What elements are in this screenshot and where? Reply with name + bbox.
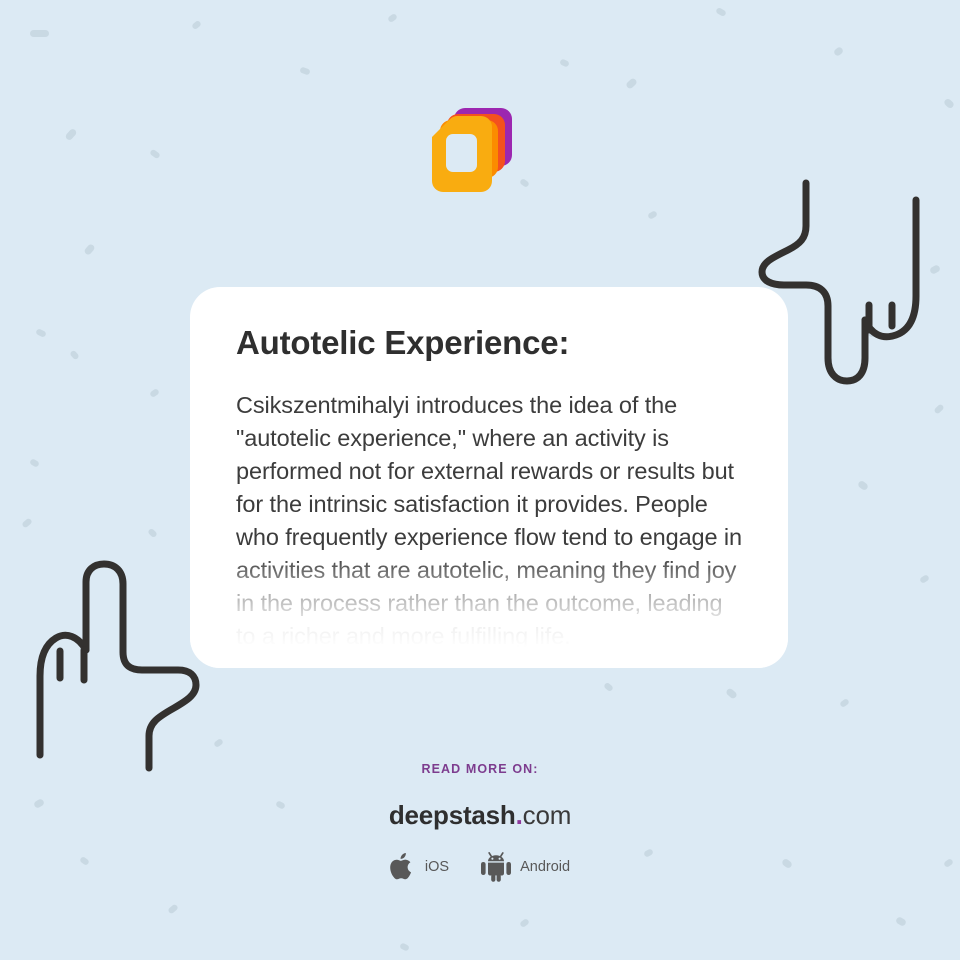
confetti-speck	[647, 210, 658, 220]
android-icon	[481, 851, 511, 882]
brand-wordmark: deepstash.com	[0, 800, 960, 831]
confetti-speck	[167, 903, 179, 914]
confetti-speck	[149, 388, 160, 398]
confetti-speck	[299, 66, 310, 75]
confetti-speck	[839, 698, 850, 708]
ios-label: iOS	[425, 859, 449, 875]
apple-icon	[390, 851, 416, 882]
pointing-up-hand-doodle	[18, 552, 218, 782]
poster-canvas: Autotelic Experience: Csikszentmihalyi i…	[0, 0, 960, 960]
confetti-speck	[147, 528, 158, 539]
deepstash-logo	[428, 104, 520, 196]
confetti-speck	[559, 58, 570, 67]
confetti-speck	[519, 178, 530, 188]
confetti-speck	[21, 517, 33, 528]
confetti-speck	[149, 149, 161, 160]
confetti-speck	[943, 98, 955, 110]
ios-badge[interactable]: iOS	[390, 851, 449, 882]
confetti-speck	[919, 574, 930, 584]
confetti-speck	[387, 13, 398, 23]
confetti-speck	[29, 458, 40, 468]
confetti-speck	[69, 350, 79, 361]
confetti-speck	[83, 243, 95, 256]
idea-card-content: Autotelic Experience: Csikszentmihalyi i…	[190, 287, 788, 653]
confetti-speck	[715, 7, 727, 17]
confetti-speck	[399, 942, 410, 951]
android-badge[interactable]: Android	[481, 851, 570, 882]
app-store-badges: iOS And	[0, 851, 960, 882]
confetti-speck	[519, 918, 530, 928]
confetti-speck	[35, 328, 47, 338]
confetti-speck	[933, 403, 944, 414]
page-title: Autotelic Experience:	[236, 323, 742, 363]
idea-card: Autotelic Experience: Csikszentmihalyi i…	[190, 287, 788, 668]
confetti-speck	[64, 128, 77, 142]
read-more-label: READ MORE ON:	[0, 762, 960, 776]
confetti-speck	[725, 687, 738, 699]
brand-name: deepstash	[389, 800, 516, 830]
confetti-speck	[191, 20, 202, 30]
brand-dot: .	[516, 800, 523, 830]
brand-tld: com	[523, 800, 572, 830]
confetti-speck	[30, 30, 49, 37]
confetti-speck	[833, 46, 844, 57]
confetti-speck	[857, 480, 869, 492]
confetti-speck	[625, 77, 638, 90]
footer: READ MORE ON: deepstash.com iOS	[0, 762, 960, 882]
confetti-speck	[603, 682, 614, 692]
idea-body-text: Csikszentmihalyi introduces the idea of …	[236, 389, 742, 653]
logo-icon	[428, 104, 520, 196]
android-label: Android	[520, 859, 570, 875]
confetti-speck	[895, 916, 907, 927]
